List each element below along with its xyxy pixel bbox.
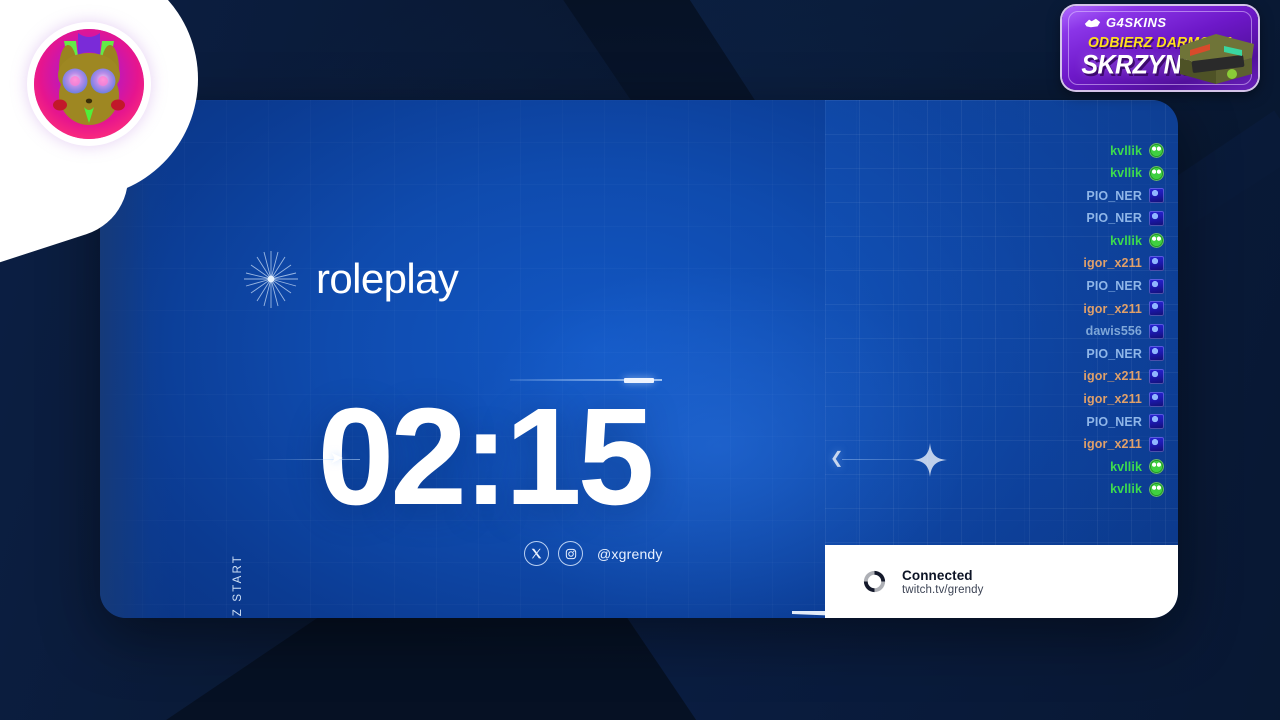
bunny-avatar-image [34, 29, 144, 139]
chat-message-row: dawis556 [1086, 323, 1164, 340]
social-handle: @xgrendy [597, 546, 663, 562]
connection-url: twitch.tv/grendy [902, 584, 984, 596]
starting-soon-card: ZARAZ START ➤ [100, 100, 1178, 618]
wolf-logo-icon [1084, 17, 1101, 29]
chat-message-row: igor_x211 [1083, 391, 1164, 408]
promo-banner[interactable]: G4SKINS ODBIERZ DARMOWĄ SKRZYNKĘ! [1062, 6, 1278, 94]
chat-username: igor_x211 [1083, 256, 1142, 270]
green-zombie-badge [1149, 482, 1164, 497]
social-links: @xgrendy [524, 541, 663, 566]
chat-message-row: igor_x211 [1083, 436, 1164, 453]
promo-logo: G4SKINS [1084, 15, 1167, 30]
green-zombie-badge [1149, 143, 1164, 158]
blue-sub-badge [1149, 256, 1164, 271]
green-zombie-badge [1149, 459, 1164, 474]
blue-sub-badge [1149, 369, 1164, 384]
chat-message-row: PIO_NER [1086, 413, 1164, 430]
countdown-value: 02:15 [318, 388, 651, 526]
status-label-vertical: ZARAZ START [218, 530, 258, 618]
chat-message-row: kvllik [1110, 165, 1164, 182]
chat-message-row: igor_x211 [1083, 300, 1164, 317]
stream-overlay-screen: ZARAZ START ➤ [0, 0, 1280, 720]
blue-sub-badge [1149, 437, 1164, 452]
chat-username: PIO_NER [1086, 211, 1142, 225]
chat-message-row: PIO_NER [1086, 187, 1164, 204]
promo-frame: G4SKINS ODBIERZ DARMOWĄ SKRZYNKĘ! [1062, 6, 1258, 90]
chat-message-row: PIO_NER [1086, 345, 1164, 362]
green-zombie-badge [1149, 233, 1164, 248]
blue-sub-badge [1149, 346, 1164, 361]
starburst-icon [240, 248, 302, 310]
twitch-connect-icon [861, 568, 888, 595]
instagram-icon[interactable] [558, 541, 583, 566]
connection-status: Connected [902, 568, 984, 583]
chat-message-row: igor_x211 [1083, 255, 1164, 272]
weapon-case-image [1172, 28, 1258, 90]
chat-username: kvllik [1110, 460, 1142, 474]
rule-left [250, 459, 360, 460]
chat-username: PIO_NER [1086, 279, 1142, 293]
chevron-right-icon: ➤ [330, 451, 343, 467]
connection-texts: Connected twitch.tv/grendy [902, 568, 984, 596]
avatar [27, 22, 151, 146]
blue-sub-badge [1149, 301, 1164, 316]
title-row: roleplay [240, 248, 458, 310]
blue-sub-badge [1149, 279, 1164, 294]
blue-sub-badge [1149, 414, 1164, 429]
chat-username: kvllik [1110, 166, 1142, 180]
chat-message-row: kvllik [1110, 481, 1164, 498]
chat-username: kvllik [1110, 144, 1142, 158]
chat-message-list[interactable]: kvllikkvllikPIO_NERPIO_NERkvllikigor_x21… [825, 142, 1164, 498]
chat-username: PIO_NER [1086, 347, 1142, 361]
page-title: roleplay [316, 258, 458, 300]
blue-sub-badge [1149, 392, 1164, 407]
promo-brand: G4SKINS [1106, 15, 1167, 30]
chat-username: igor_x211 [1083, 369, 1142, 383]
chat-message-row: kvllik [1110, 232, 1164, 249]
chat-username: dawis556 [1086, 324, 1142, 338]
chat-message-row: kvllik [1110, 458, 1164, 475]
chat-message-row: igor_x211 [1083, 368, 1164, 385]
blue-sub-badge [1149, 324, 1164, 339]
blue-sub-badge [1149, 188, 1164, 203]
chat-username: igor_x211 [1083, 437, 1142, 451]
chat-username: igor_x211 [1083, 392, 1142, 406]
x-twitter-icon[interactable] [524, 541, 549, 566]
chat-username: kvllik [1110, 234, 1142, 248]
chat-panel: kvllikkvllikPIO_NERPIO_NERkvllikigor_x21… [825, 100, 1178, 545]
chat-username: kvllik [1110, 482, 1142, 496]
connection-footer: Connected twitch.tv/grendy [825, 545, 1178, 618]
chat-username: igor_x211 [1083, 302, 1142, 316]
chat-username: PIO_NER [1086, 415, 1142, 429]
chat-message-row: PIO_NER [1086, 210, 1164, 227]
status-label-text: ZARAZ START [232, 554, 244, 618]
chat-username: PIO_NER [1086, 189, 1142, 203]
chat-message-row: PIO_NER [1086, 278, 1164, 295]
green-zombie-badge [1149, 166, 1164, 181]
chat-message-row: kvllik [1110, 142, 1164, 159]
blue-sub-badge [1149, 211, 1164, 226]
